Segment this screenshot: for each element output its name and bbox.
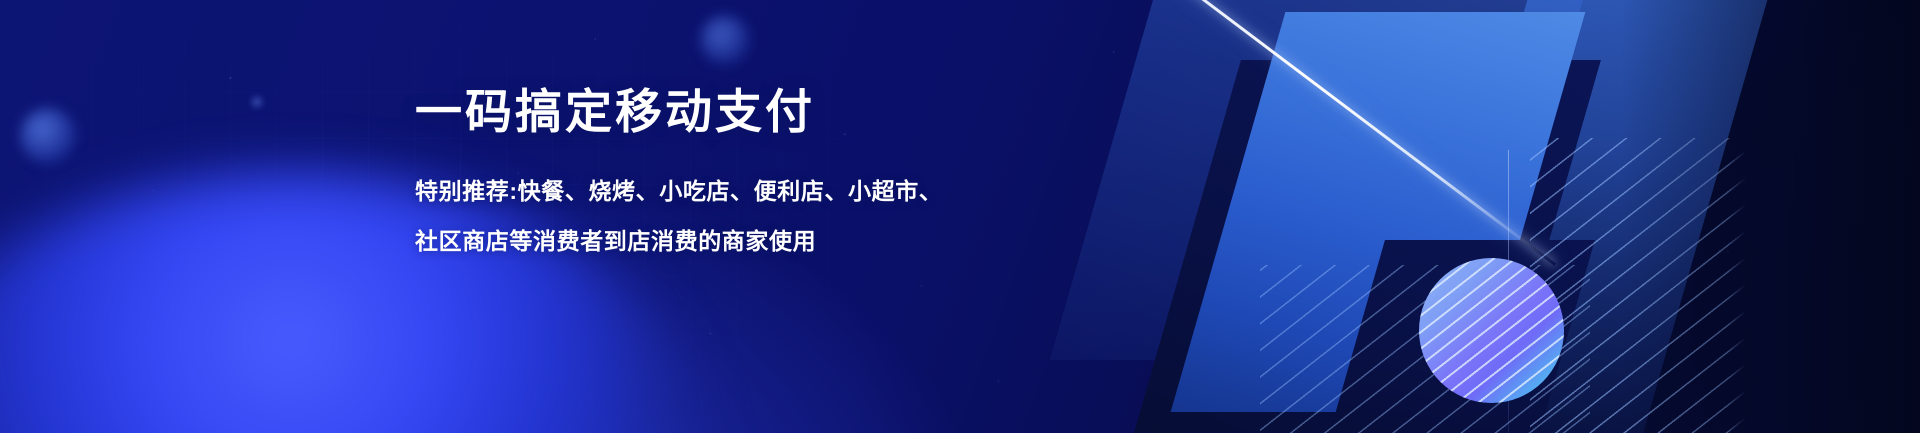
banner-subtitle-line-1: 特别推荐:快餐、烧烤、小吃店、便利店、小超市、: [415, 166, 1135, 216]
promo-banner: 一码搞定移动支付 特别推荐:快餐、烧烤、小吃店、便利店、小超市、 社区商店等消费…: [0, 0, 1920, 433]
banner-subtitle-line-2: 社区商店等消费者到店消费的商家使用: [415, 216, 1135, 266]
banner-headline: 一码搞定移动支付: [415, 82, 1135, 142]
banner-copy: 一码搞定移动支付 特别推荐:快餐、烧烤、小吃店、便利店、小超市、 社区商店等消费…: [415, 82, 1135, 266]
banner-subtitle: 特别推荐:快餐、烧烤、小吃店、便利店、小超市、 社区商店等消费者到店消费的商家使…: [415, 142, 1135, 266]
